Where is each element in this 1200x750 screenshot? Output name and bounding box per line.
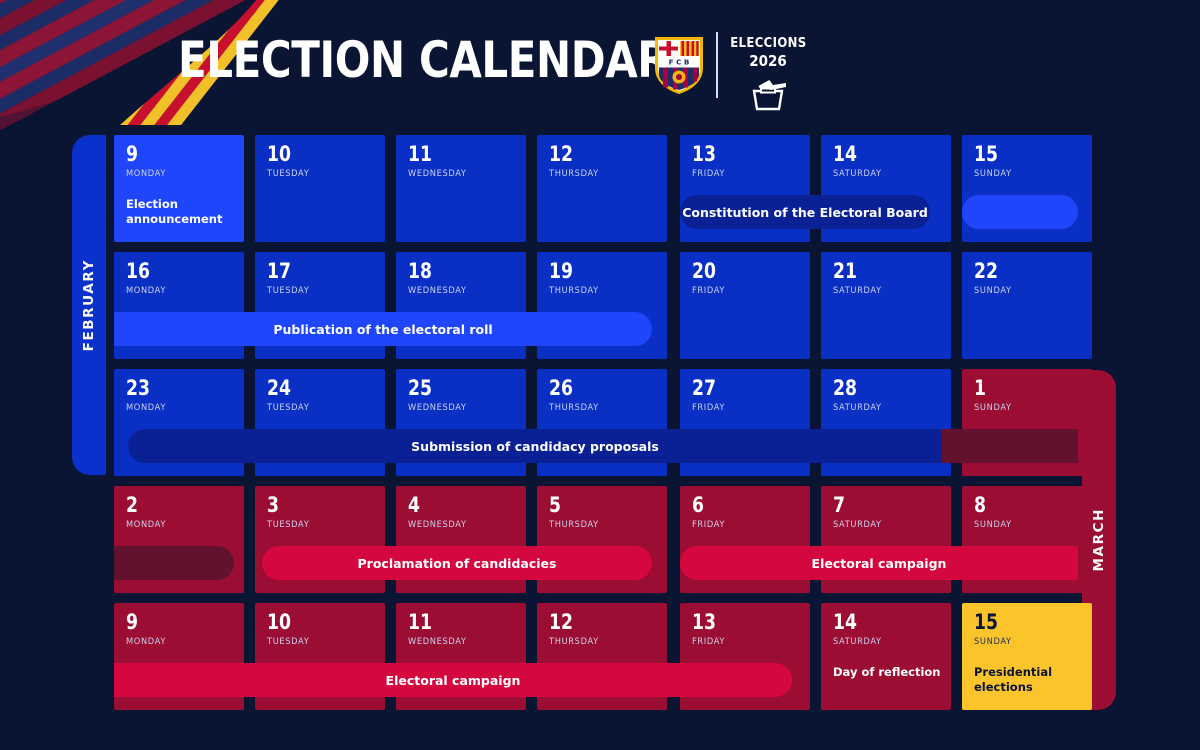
calendar-week-row: 16MONDAY17TUESDAY18WEDNESDAY19THURSDAY20… xyxy=(114,252,1078,359)
day-number: 20 xyxy=(692,260,716,282)
day-number: 12 xyxy=(549,611,573,633)
day-cell[interactable]: 22SUNDAY xyxy=(962,252,1092,359)
day-number: 23 xyxy=(126,377,150,399)
day-number: 4 xyxy=(408,494,420,516)
elections-badge: ELECCIONS 2026 xyxy=(726,36,810,116)
day-number: 9 xyxy=(126,611,138,633)
day-number: 12 xyxy=(549,143,573,165)
month-tab-february[interactable]: FEBRUARY xyxy=(72,135,106,475)
day-weekday: TUESDAY xyxy=(267,403,309,413)
day-weekday: SUNDAY xyxy=(974,286,1012,296)
day-number: 21 xyxy=(833,260,857,282)
event-span-pill[interactable] xyxy=(114,546,234,580)
event-span-pill[interactable]: Publication of the electoral roll xyxy=(114,312,652,346)
day-weekday: FRIDAY xyxy=(692,403,725,413)
month-label: MARCH xyxy=(1091,508,1107,571)
day-event-label: Presidential elections xyxy=(974,665,1084,695)
day-event-label: Day of reflection xyxy=(833,665,943,680)
day-event-label: Election announcement xyxy=(126,197,236,227)
day-weekday: SATURDAY xyxy=(833,286,882,296)
day-weekday: MONDAY xyxy=(126,169,166,179)
day-weekday: FRIDAY xyxy=(692,286,725,296)
day-weekday: THURSDAY xyxy=(549,637,599,647)
day-cell[interactable]: 20FRIDAY xyxy=(680,252,810,359)
day-number: 7 xyxy=(833,494,845,516)
day-cell[interactable]: 9MONDAYElection announcement xyxy=(114,135,244,242)
day-number: 19 xyxy=(549,260,573,282)
day-cell[interactable]: 15SUNDAYPresidential elections xyxy=(962,603,1092,710)
event-span-pill[interactable]: Electoral campaign xyxy=(114,663,792,697)
day-weekday: THURSDAY xyxy=(549,169,599,179)
ballot-box-icon xyxy=(746,73,790,111)
event-span-pill[interactable] xyxy=(942,429,1078,463)
day-number: 10 xyxy=(267,611,291,633)
day-weekday: THURSDAY xyxy=(549,403,599,413)
day-weekday: FRIDAY xyxy=(692,637,725,647)
day-weekday: SATURDAY xyxy=(833,169,882,179)
day-number: 26 xyxy=(549,377,573,399)
event-span-pill[interactable] xyxy=(962,195,1078,229)
day-cell[interactable]: 14SATURDAYDay of reflection xyxy=(821,603,951,710)
day-number: 18 xyxy=(408,260,432,282)
day-weekday: TUESDAY xyxy=(267,286,309,296)
day-weekday: WEDNESDAY xyxy=(408,520,467,530)
calendar-week-row: 2MONDAY3TUESDAY4WEDNESDAY5THURSDAY6FRIDA… xyxy=(114,486,1078,593)
day-weekday: FRIDAY xyxy=(692,520,725,530)
day-weekday: TUESDAY xyxy=(267,520,309,530)
calendar-week-row: 9MONDAYElection announcement10TUESDAY11W… xyxy=(114,135,1078,242)
day-weekday: WEDNESDAY xyxy=(408,169,467,179)
day-number: 16 xyxy=(126,260,150,282)
day-weekday: MONDAY xyxy=(126,637,166,647)
day-number: 15 xyxy=(974,143,998,165)
day-weekday: SATURDAY xyxy=(833,637,882,647)
day-number: 13 xyxy=(692,611,716,633)
event-span-pill[interactable]: Electoral campaign xyxy=(680,546,1078,580)
day-weekday: TUESDAY xyxy=(267,169,309,179)
elections-year: 2026 xyxy=(730,52,806,70)
election-calendar-page: ELECTION CALENDAR F C B ELECCIONS xyxy=(0,0,1200,750)
calendar-grid: FEBRUARY MARCH 9MONDAYElection announcem… xyxy=(0,130,1200,730)
day-number: 24 xyxy=(267,377,291,399)
day-weekday: MONDAY xyxy=(126,286,166,296)
day-cell[interactable]: 12THURSDAY xyxy=(537,135,667,242)
day-number: 25 xyxy=(408,377,432,399)
day-cell[interactable]: 11WEDNESDAY xyxy=(396,135,526,242)
day-weekday: MONDAY xyxy=(126,403,166,413)
day-number: 22 xyxy=(974,260,998,282)
day-number: 15 xyxy=(974,611,998,633)
day-number: 11 xyxy=(408,143,432,165)
day-number: 2 xyxy=(126,494,138,516)
day-weekday: WEDNESDAY xyxy=(408,403,467,413)
day-weekday: SUNDAY xyxy=(974,169,1012,179)
day-number: 13 xyxy=(692,143,716,165)
day-weekday: SATURDAY xyxy=(833,403,882,413)
day-number: 6 xyxy=(692,494,704,516)
calendar-week-row: 23MONDAY24TUESDAY25WEDNESDAY26THURSDAY27… xyxy=(114,369,1078,476)
header-divider xyxy=(716,32,718,98)
day-number: 8 xyxy=(974,494,986,516)
event-span-pill[interactable]: Constitution of the Electoral Board xyxy=(680,195,930,229)
day-number: 10 xyxy=(267,143,291,165)
day-weekday: THURSDAY xyxy=(549,286,599,296)
day-weekday: SATURDAY xyxy=(833,520,882,530)
day-number: 14 xyxy=(833,611,857,633)
day-number: 17 xyxy=(267,260,291,282)
day-number: 14 xyxy=(833,143,857,165)
page-header: ELECTION CALENDAR F C B ELECCIONS xyxy=(0,0,1200,130)
event-span-pill[interactable]: Submission of candidacy proposals xyxy=(128,429,942,463)
day-weekday: WEDNESDAY xyxy=(408,637,467,647)
day-weekday: SUNDAY xyxy=(974,403,1012,413)
fcb-crest-icon: F C B xyxy=(652,34,706,96)
page-title: ELECTION CALENDAR xyxy=(178,33,669,87)
day-weekday: SUNDAY xyxy=(974,520,1012,530)
day-weekday: MONDAY xyxy=(126,520,166,530)
day-number: 5 xyxy=(549,494,561,516)
calendar-week-row: 9MONDAY10TUESDAY11WEDNESDAY12THURSDAY13F… xyxy=(114,603,1078,710)
day-weekday: TUESDAY xyxy=(267,637,309,647)
day-weekday: WEDNESDAY xyxy=(408,286,467,296)
elections-word: ELECCIONS xyxy=(730,36,806,51)
day-number: 9 xyxy=(126,143,138,165)
day-number: 3 xyxy=(267,494,279,516)
day-weekday: THURSDAY xyxy=(549,520,599,530)
svg-text:F C B: F C B xyxy=(669,57,690,66)
day-number: 11 xyxy=(408,611,432,633)
day-number: 1 xyxy=(974,377,986,399)
day-number: 27 xyxy=(692,377,716,399)
day-number: 28 xyxy=(833,377,857,399)
month-label: FEBRUARY xyxy=(81,259,97,351)
event-span-pill[interactable]: Proclamation of candidacies xyxy=(262,546,652,580)
day-cell[interactable]: 21SATURDAY xyxy=(821,252,951,359)
day-weekday: SUNDAY xyxy=(974,637,1012,647)
day-weekday: FRIDAY xyxy=(692,169,725,179)
day-cell[interactable]: 10TUESDAY xyxy=(255,135,385,242)
